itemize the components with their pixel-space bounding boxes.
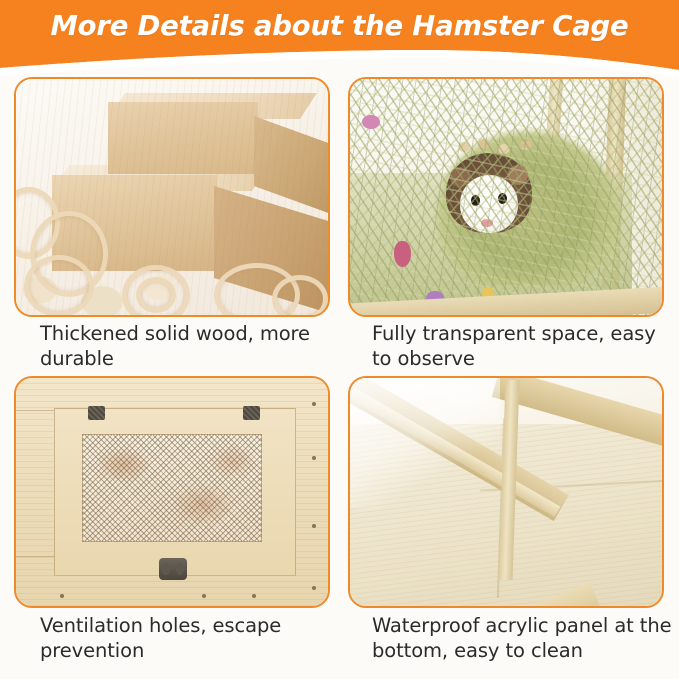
- latch-icon: [159, 558, 187, 580]
- ventilation-mesh-panel-photo: [14, 376, 330, 608]
- screw-icon: [312, 586, 316, 590]
- solid-wood-blocks-photo: [14, 77, 330, 317]
- screw-icon: [312, 456, 316, 460]
- hay-strands-texture: [350, 79, 662, 315]
- feature-card-fully-transparent-space[interactable]: [348, 77, 664, 317]
- page-title: More Details about the Hamster Cage: [0, 6, 679, 46]
- wood-curl-icon: [136, 277, 176, 313]
- wood-curl-icon: [272, 275, 328, 315]
- product-feature-infographic: More Details about the Hamster Cage: [0, 0, 679, 679]
- screw-icon: [312, 524, 316, 528]
- feature-caption-ventilation-holes: Ventilation holes, escape prevention: [40, 613, 340, 663]
- feature-card-waterproof-acrylic-panel[interactable]: [348, 376, 664, 608]
- screw-icon: [60, 594, 64, 598]
- dried-flower-icon: [394, 241, 411, 267]
- ventilation-mesh-window: [82, 434, 262, 542]
- feature-caption-fully-transparent-space: Fully transparent space, easy to observe: [372, 321, 672, 371]
- panel-seam-line: [16, 410, 54, 411]
- screw-icon: [252, 594, 256, 598]
- panel-seam-line: [16, 556, 54, 557]
- screw-icon: [202, 594, 206, 598]
- light-glare: [350, 378, 500, 508]
- acrylic-bottom-panel-photo: [348, 376, 664, 608]
- feature-card-ventilation-holes[interactable]: [14, 376, 330, 608]
- screw-icon: [312, 402, 316, 406]
- feature-card-thickened-solid-wood[interactable]: [14, 77, 330, 317]
- hinge-icon: [88, 406, 105, 420]
- feature-caption-thickened-solid-wood: Thickened solid wood, more durable: [40, 321, 340, 371]
- hamster-in-hay-photo: [348, 77, 664, 317]
- feature-caption-waterproof-acrylic-panel: Waterproof acrylic panel at the bottom, …: [372, 613, 672, 663]
- wood-curl-icon: [24, 255, 94, 315]
- dried-flower-icon: [362, 115, 380, 129]
- hinge-icon: [243, 406, 260, 420]
- feature-grid: Thickened solid wood, more durable: [0, 68, 679, 679]
